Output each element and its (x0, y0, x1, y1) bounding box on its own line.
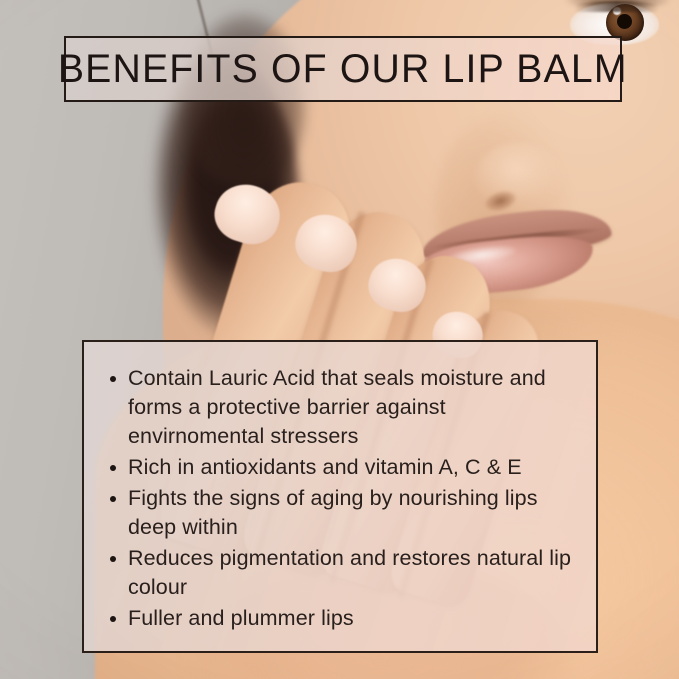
pupil (617, 14, 632, 29)
benefits-panel: Contain Lauric Acid that seals moisture … (82, 340, 598, 653)
list-item: Contain Lauric Acid that seals moisture … (104, 364, 574, 451)
list-item: Rich in antioxidants and vitamin A, C & … (104, 453, 574, 482)
list-item: Fuller and plummer lips (104, 604, 574, 633)
benefits-list: Contain Lauric Acid that seals moisture … (104, 364, 574, 633)
lip-balm-benefits-poster: BENEFITS OF OUR LIP BALM Contain Lauric … (0, 0, 679, 679)
eyelashes (574, 1, 659, 12)
page-title: BENEFITS OF OUR LIP BALM (58, 47, 628, 92)
headline-box: BENEFITS OF OUR LIP BALM (64, 36, 622, 102)
list-item: Fights the signs of aging by nourishing … (104, 484, 574, 542)
list-item: Reduces pigmentation and restores natura… (104, 544, 574, 602)
